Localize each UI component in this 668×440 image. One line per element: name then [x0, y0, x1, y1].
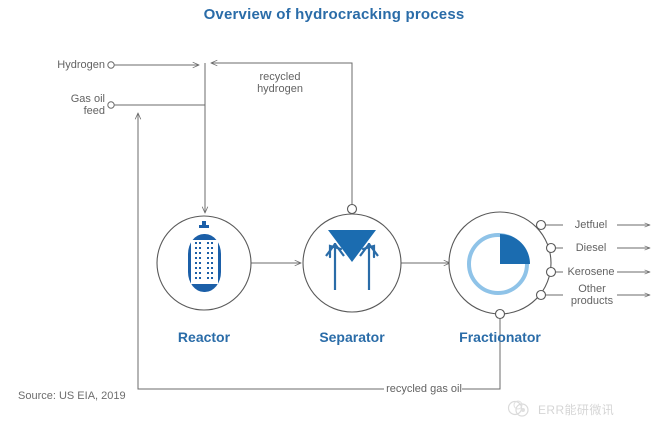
recycled-hydrogen-label: recycled hydrogen	[232, 71, 328, 95]
node-label-fractionator: Fractionator	[434, 329, 566, 345]
source-note: Source: US EIA, 2019	[18, 390, 126, 402]
gas-oil-feed-line	[108, 102, 205, 108]
watermark: ERR能研微讯	[506, 398, 614, 420]
circles-logo-icon	[506, 398, 532, 420]
output-label-diesel: Diesel	[566, 242, 616, 254]
node-reactor[interactable]	[157, 216, 251, 310]
diagram-canvas: Overview of hydrocracking process	[0, 0, 668, 440]
node-separator[interactable]	[303, 205, 401, 313]
input-label-hydrogen: Hydrogen	[10, 59, 105, 71]
hydrogen-feed-line	[108, 62, 199, 68]
watermark-text: ERR能研微讯	[538, 401, 614, 418]
node-label-reactor: Reactor	[154, 329, 254, 345]
node-fractionator[interactable]	[449, 212, 556, 319]
node-label-separator: Separator	[296, 329, 408, 345]
output-label-jetfuel: Jetfuel	[566, 219, 616, 231]
input-label-gas-oil-feed: Gas oil feed	[10, 93, 105, 117]
output-label-other-products: Other products	[566, 283, 618, 307]
output-label-kerosene: Kerosene	[563, 266, 619, 278]
recycled-gas-oil-label: recycled gas oil	[382, 383, 466, 395]
